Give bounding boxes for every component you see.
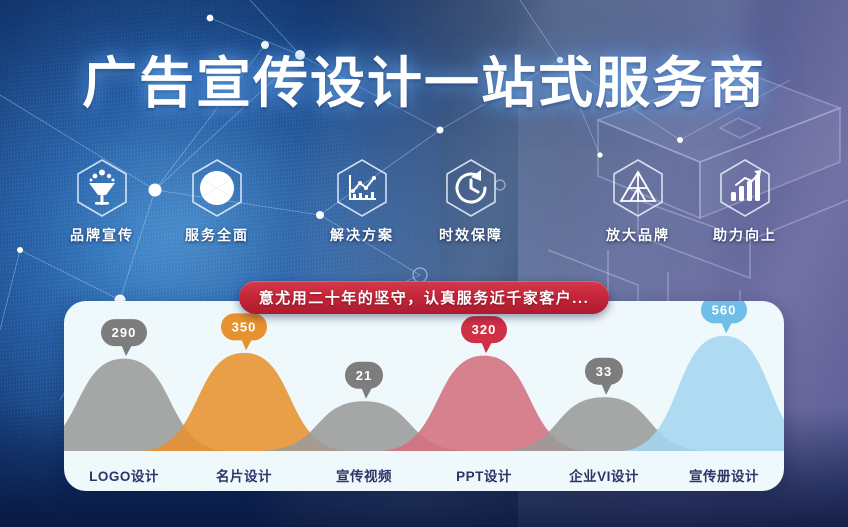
chart-category-label: 宣传视频: [336, 465, 392, 485]
page-title: 广告宣传设计一站式服务商: [0, 56, 848, 111]
feature-item-solution[interactable]: 解决方案: [314, 155, 410, 245]
bell-curve-chart: [64, 301, 784, 466]
feature-icon-row: 品牌宣传 服务全面: [0, 155, 848, 250]
feature-item-growth[interactable]: 助力向上: [697, 155, 793, 245]
feature-label: 服务全面: [169, 225, 265, 245]
megaphone-icon: [54, 155, 150, 221]
feature-item-timeliness[interactable]: 时效保障: [423, 155, 519, 245]
chart-category-label: 企业VI设计: [569, 465, 639, 485]
poster-canvas: 广告宣传设计一站式服务商 品牌宣传: [0, 0, 848, 527]
promo-banner[interactable]: 意尤用二十年的坚守，认真服务近千家客户...: [239, 281, 609, 314]
feature-item-service[interactable]: 服务全面: [169, 155, 265, 245]
clock-rewind-icon: [423, 155, 519, 221]
chart-category-label: LOGO设计: [89, 465, 159, 485]
aperture-icon: [169, 155, 265, 221]
feature-item-brand[interactable]: 品牌宣传: [54, 155, 150, 245]
chart-category-label: 名片设计: [216, 465, 272, 485]
promo-banner-text: 意尤用二十年的坚守，认真服务近千家客户...: [259, 287, 590, 308]
chart-card: 2903502132033560 LOGO设计名片设计宣传视频PPT设计企业VI…: [64, 301, 784, 491]
feature-label: 品牌宣传: [54, 225, 150, 245]
chart-category-label: 宣传册设计: [689, 465, 759, 485]
analytics-icon: [314, 155, 410, 221]
pyramid-icon: [590, 155, 686, 221]
feature-label: 放大品牌: [590, 225, 686, 245]
feature-label: 解决方案: [314, 225, 410, 245]
bar-growth-icon: [697, 155, 793, 221]
feature-label: 时效保障: [423, 225, 519, 245]
feature-item-amplify[interactable]: 放大品牌: [590, 155, 686, 245]
chart-category-label: PPT设计: [456, 465, 512, 485]
chart-category-labels: LOGO设计名片设计宣传视频PPT设计企业VI设计宣传册设计: [64, 461, 784, 485]
feature-label: 助力向上: [697, 225, 793, 245]
